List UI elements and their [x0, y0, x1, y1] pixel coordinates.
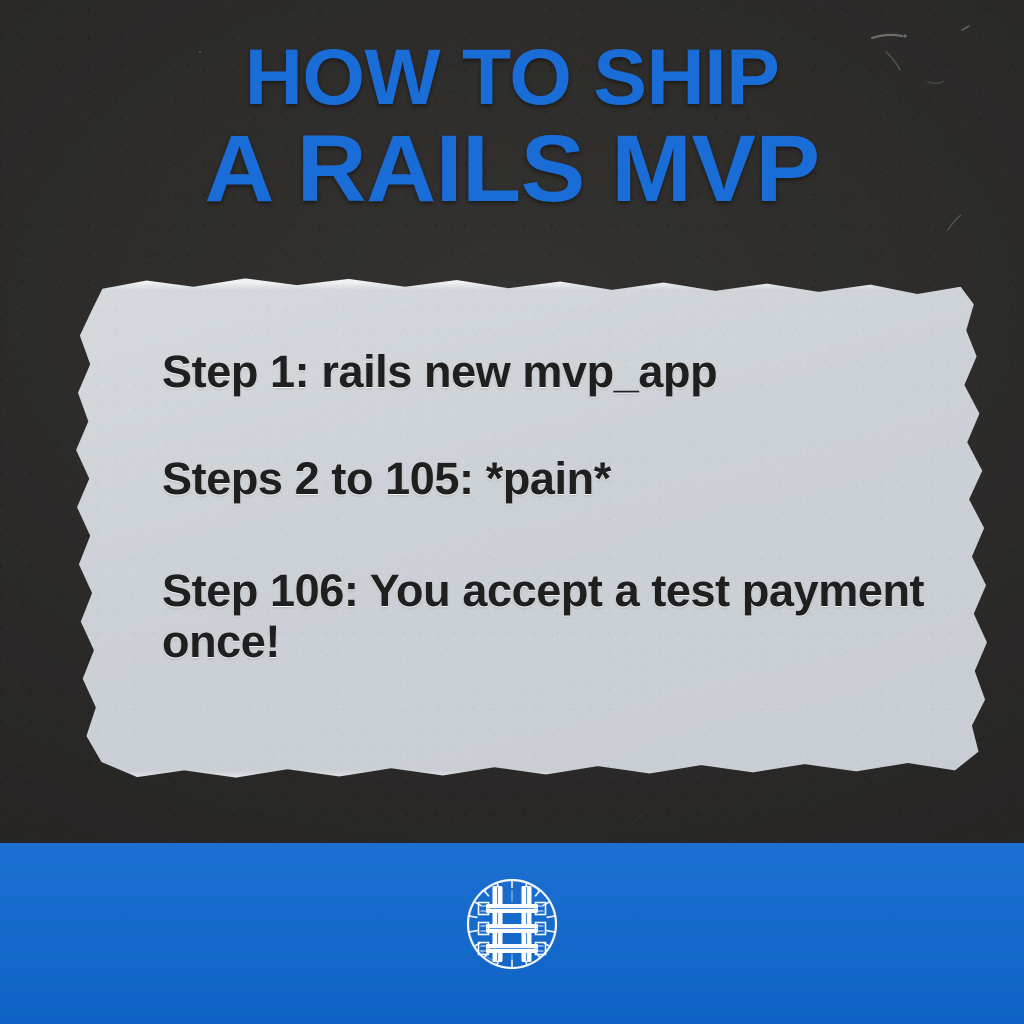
- railroad-track-emblem-icon: [456, 868, 568, 980]
- headline-line-2: A RAILS MVP: [0, 123, 1024, 216]
- step-item-1: Step 1: rails new mvp_app: [162, 346, 956, 397]
- step-item-3: Step 106: You accept a test payment once…: [162, 565, 956, 668]
- torn-paper-card: Step 1: rails new mvp_app Steps 2 to 105…: [62, 268, 1002, 788]
- footer-brand-band: [0, 843, 1024, 1024]
- steps-list: Step 1: rails new mvp_app Steps 2 to 105…: [162, 346, 956, 667]
- poster-canvas: HOW TO SHIP A RAILS MVP Step 1: rails ne…: [0, 0, 1024, 1024]
- poster-headline: HOW TO SHIP A RAILS MVP: [0, 38, 1024, 217]
- headline-line-1: HOW TO SHIP: [0, 38, 1024, 115]
- step-item-2: Steps 2 to 105: *pain*: [162, 453, 956, 504]
